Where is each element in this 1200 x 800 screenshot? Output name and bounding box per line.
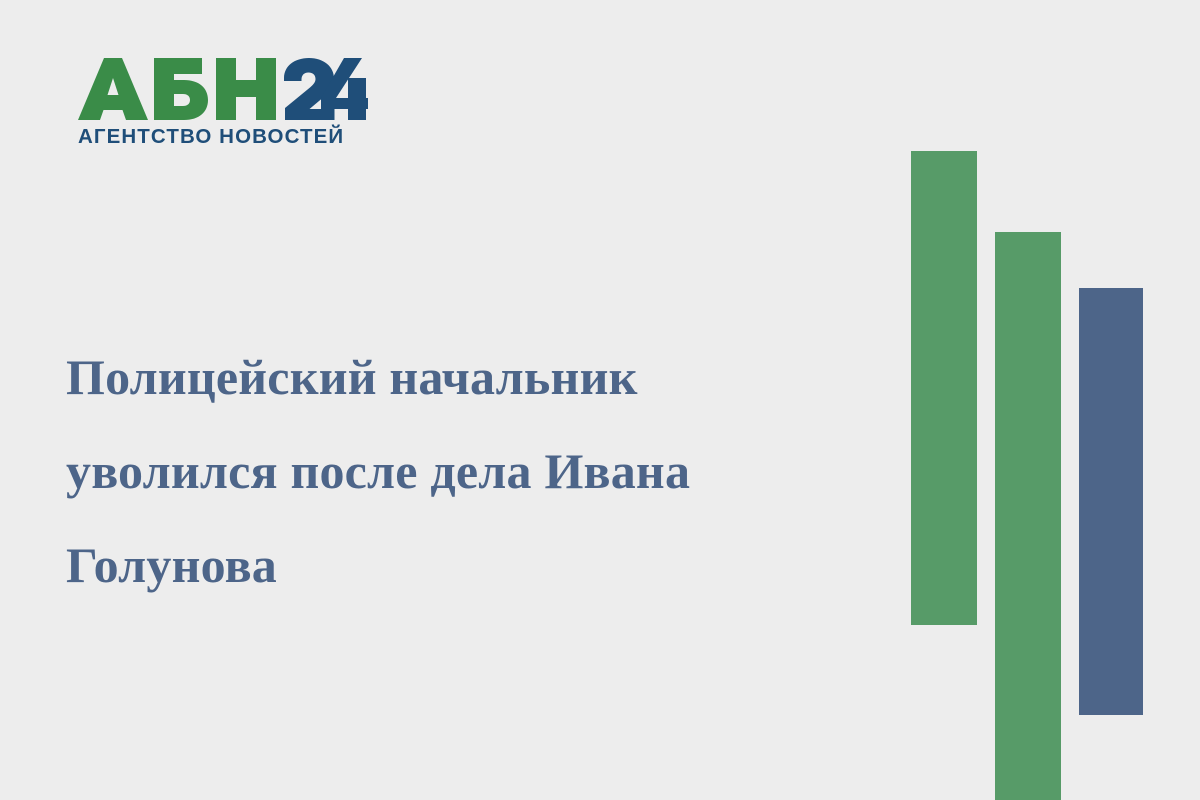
news-card: АГЕНТСТВО НОВОСТЕЙ Полицейский начальник… [0,0,1200,800]
headline-line-1: Полицейский начальник [66,330,866,424]
chart-bar-2 [995,232,1061,800]
logo-tagline: АГЕНТСТВО НОВОСТЕЙ [78,127,378,148]
headline-line-3: Голунова [66,518,866,612]
headline: Полицейский начальник уволился после дел… [66,330,866,612]
headline-line-2: уволился после дела Ивана [66,424,866,518]
chart-bar-1 [911,151,977,625]
abn24-wordmark-icon [78,58,368,120]
brand-logo[interactable]: АГЕНТСТВО НОВОСТЕЙ [78,58,378,148]
chart-bar-3 [1079,288,1143,715]
